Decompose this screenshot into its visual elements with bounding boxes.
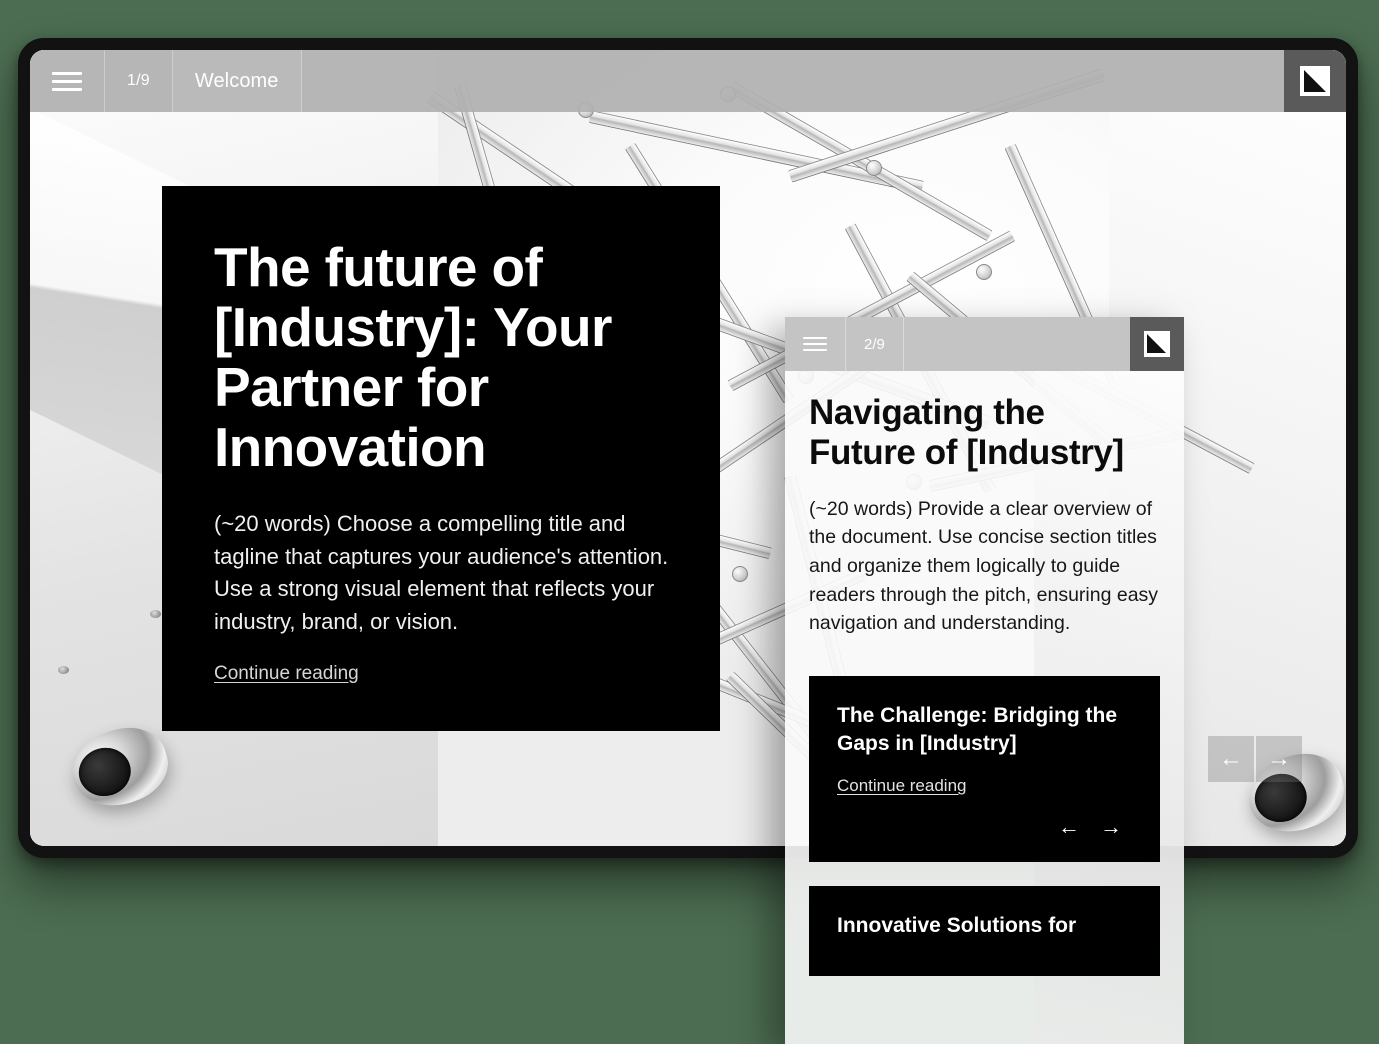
mobile-page-indicator: 2/9 (846, 317, 904, 371)
mobile-preview-panel: 2/9 Navigating the Future of [Industry] … (785, 317, 1184, 1044)
mobile-section-card: The Challenge: Bridging the Gaps in [Ind… (809, 676, 1160, 862)
mobile-brand-logo-button[interactable] (1130, 317, 1184, 371)
page-background: 1/9 Welcome The future of [Industry]: Yo… (0, 0, 1379, 1044)
hamburger-icon (803, 333, 827, 355)
section-tab-welcome[interactable]: Welcome (173, 50, 302, 112)
arrow-left-icon[interactable]: ← (1048, 810, 1090, 844)
hero-title: The future of [Industry]: Your Partner f… (214, 238, 676, 478)
mobile-title: Navigating the Future of [Industry] (809, 393, 1160, 473)
mobile-card-nav: ← → (837, 810, 1132, 844)
desktop-topbar: 1/9 Welcome (30, 50, 1346, 112)
mobile-section-card-title: The Challenge: Bridging the Gaps in [Ind… (837, 702, 1132, 758)
hero-card: The future of [Industry]: Your Partner f… (162, 186, 720, 731)
mobile-paragraph: (~20 words) Provide a clear overview of … (809, 495, 1160, 638)
arrow-right-icon[interactable]: → (1090, 810, 1132, 844)
brand-logo-button[interactable] (1284, 50, 1346, 112)
desktop-slide-nav: ← → (1208, 736, 1302, 782)
logo-triangle-icon (1300, 66, 1330, 96)
mobile-section-card-partial: Innovative Solutions for (809, 886, 1160, 976)
topbar-spacer (302, 50, 1284, 112)
page-indicator-label: 1/9 (127, 72, 150, 90)
arrow-left-icon[interactable]: ← (1208, 736, 1254, 782)
hamburger-icon (52, 67, 82, 96)
page-indicator: 1/9 (105, 50, 173, 112)
mobile-continue-reading-link[interactable]: Continue reading (837, 776, 966, 796)
arrow-right-icon[interactable]: → (1256, 736, 1302, 782)
menu-button[interactable] (30, 50, 105, 112)
mobile-section-card-partial-title: Innovative Solutions for (837, 912, 1132, 940)
mobile-topbar: 2/9 (785, 317, 1184, 371)
mobile-body: Navigating the Future of [Industry] (~20… (785, 371, 1184, 976)
mobile-topbar-spacer (904, 317, 1130, 371)
mobile-page-indicator-label: 2/9 (864, 336, 885, 353)
mobile-content-layer: 2/9 Navigating the Future of [Industry] … (785, 317, 1184, 976)
logo-triangle-icon (1144, 331, 1170, 357)
hero-body-text: (~20 words) Choose a compelling title an… (214, 508, 676, 639)
hero-continue-reading-link[interactable]: Continue reading (214, 663, 359, 685)
mobile-menu-button[interactable] (785, 317, 846, 371)
